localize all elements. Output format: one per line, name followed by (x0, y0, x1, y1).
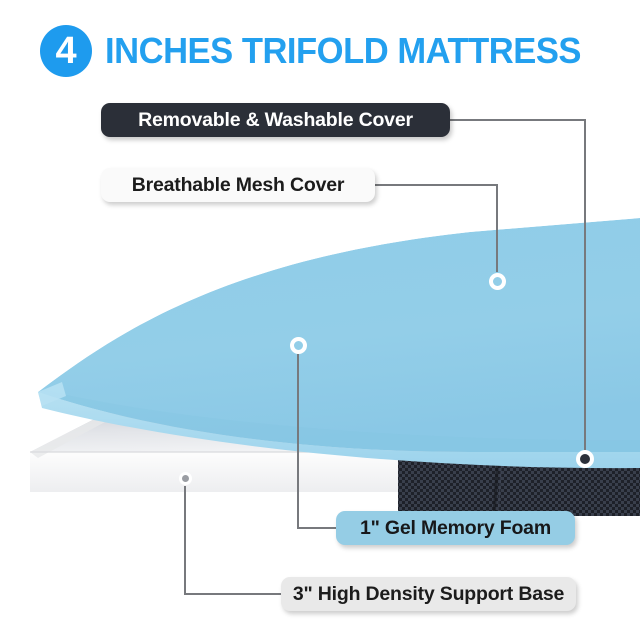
callout-gel-memory-foam[interactable]: 1" Gel Memory Foam (336, 511, 575, 545)
mattress-infographic: 4 INCHES TRIFOLD MATTRESS (0, 0, 640, 640)
callout-breathable-mesh-cover[interactable]: Breathable Mesh Cover (101, 168, 375, 202)
marker-mesh-cover (489, 273, 506, 290)
marker-washable-cover (576, 450, 594, 468)
callout-removable-washable-cover[interactable]: Removable & Washable Cover (101, 103, 450, 137)
marker-gel-foam (290, 337, 307, 354)
callout-high-density-support-base[interactable]: 3" High Density Support Base (281, 577, 576, 611)
marker-support-base (179, 472, 192, 485)
